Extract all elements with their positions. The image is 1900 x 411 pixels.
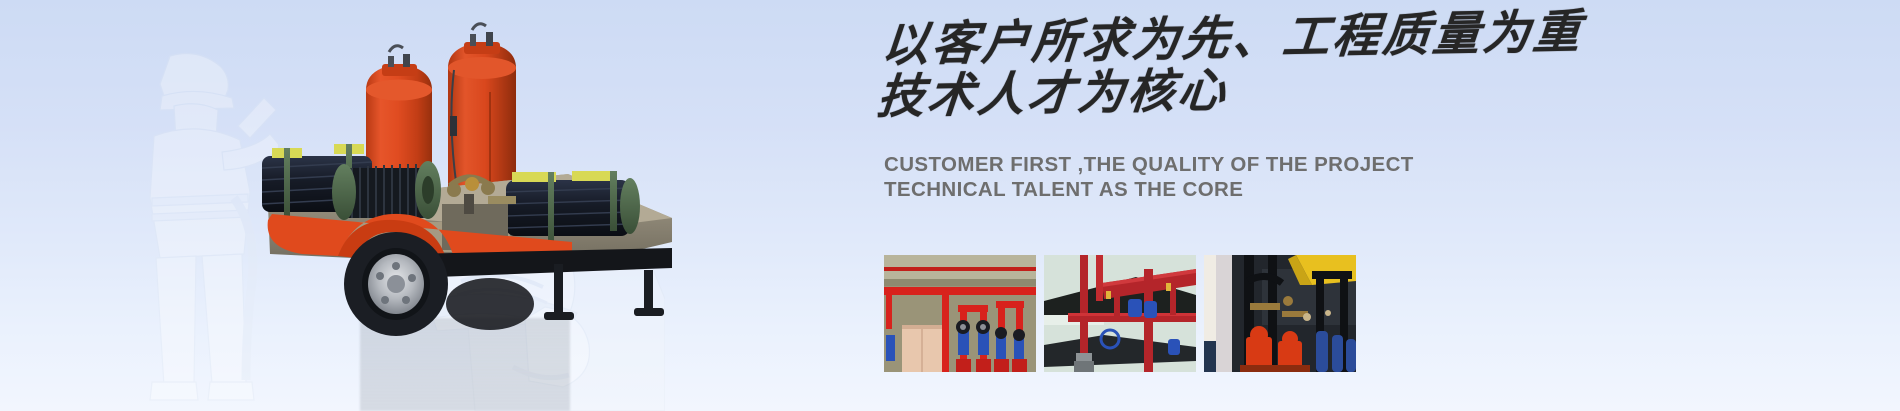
subheadline-line-1: CUSTOMER FIRST ,THE QUALITY OF THE PROJE…: [884, 152, 1584, 177]
thumb-red-standpipe-stairwell[interactable]: [1044, 255, 1196, 372]
hose-reel-center: [332, 161, 441, 220]
subheadline-line-2: TECHNICAL TALENT AS THE CORE: [884, 177, 1584, 202]
trailer-wheel: [344, 232, 448, 336]
thumbnail-strip: [884, 255, 1356, 372]
thumb-red-sprinkler-riser-room[interactable]: [884, 255, 1036, 372]
headline-chinese: 以客户所求为先、工程质量为重 技术人才为核心: [875, 7, 1585, 124]
copy-block: 以客户所求为先、工程质量为重 技术人才为核心 CUSTOMER FIRST ,T…: [884, 20, 1584, 202]
thumb-fire-pump-room[interactable]: [1204, 255, 1356, 372]
product-image-fire-trailer: [258, 8, 678, 338]
subheadline-english: CUSTOMER FIRST ,THE QUALITY OF THE PROJE…: [884, 152, 1584, 202]
firefighter-with-hose-ghost: [118, 48, 278, 408]
hero-banner: 以客户所求为先、工程质量为重 技术人才为核心 CUSTOMER FIRST ,T…: [0, 0, 1900, 411]
